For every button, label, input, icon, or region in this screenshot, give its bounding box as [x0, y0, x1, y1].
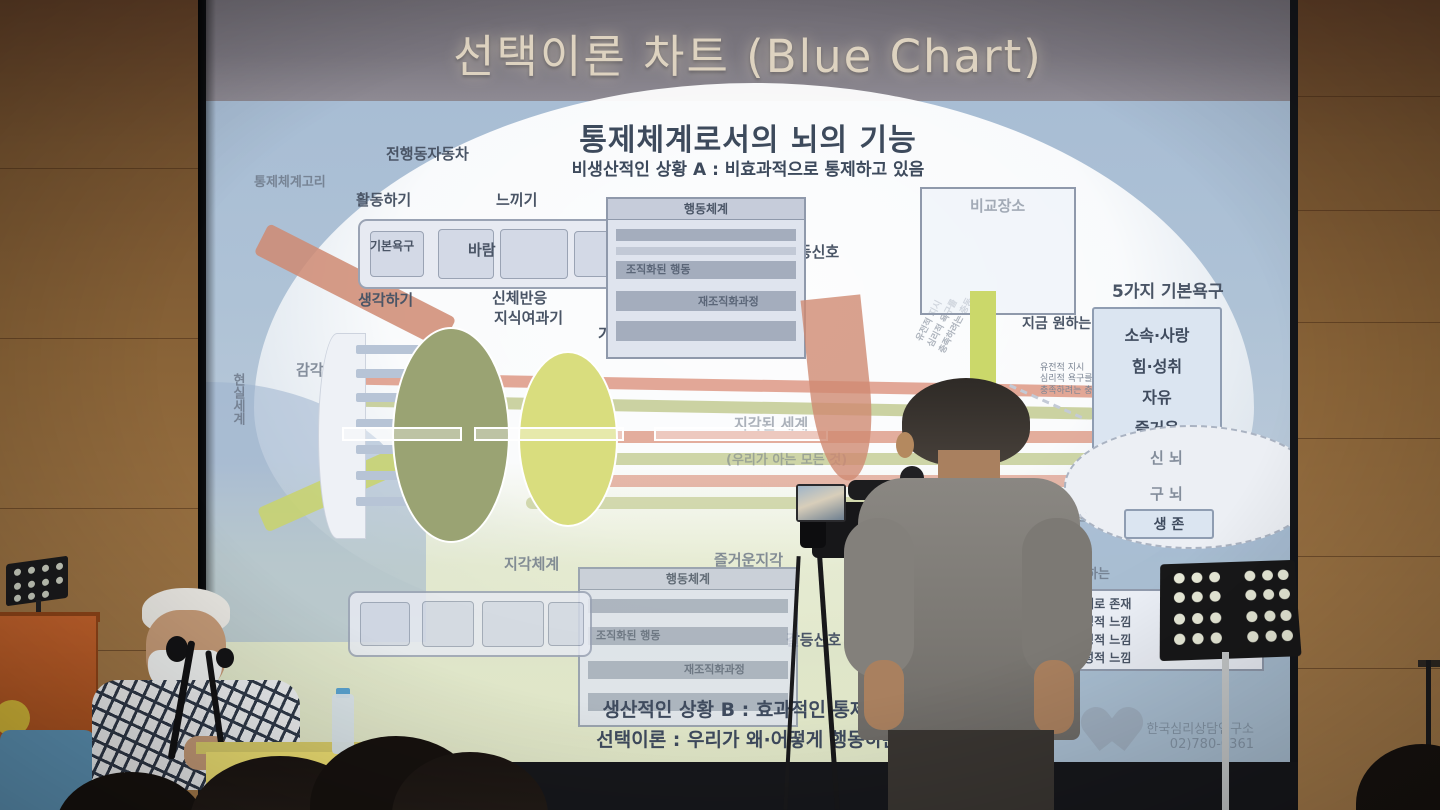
operator-arm-left: [864, 660, 904, 730]
label-real-world: 현실세계: [228, 373, 247, 425]
label-wants: 바람: [468, 239, 496, 260]
label-control-loop: 통제체계고리: [254, 171, 326, 190]
institute-name: 한국심리상담연구소: [1146, 718, 1254, 737]
label-perceptual-system: 지각체계: [504, 553, 559, 574]
total-behavior-car-bottom: [348, 591, 592, 657]
label-five-needs-title: 5가지 기본욕구: [1112, 277, 1224, 302]
music-stand-right-pole: [1222, 652, 1229, 810]
label-knowledge-filter: 지식여과기: [494, 307, 563, 328]
comparing-place-box: [920, 187, 1076, 315]
behavior-box-title-bottom: 행동체계: [580, 569, 796, 590]
behavior-row-organized: 조직화된 행동: [626, 261, 691, 277]
operator-sleeve-left: [844, 518, 914, 678]
institute-phone: 02)780-0361: [1146, 737, 1254, 752]
need-power: 힘·성취: [1094, 353, 1220, 377]
behavior-row-organized-bottom: 조직화된 행동: [596, 627, 661, 643]
label-thinking: 생각하기: [358, 289, 413, 310]
behavior-row-reorganizing: 재조직화과정: [698, 293, 759, 309]
label-new-brain: 신 뇌: [1150, 447, 1183, 468]
slide-title: 선택이론 차트 (Blue Chart): [206, 20, 1290, 85]
operator-arm-right: [1034, 660, 1074, 734]
operator-sleeve-right: [1022, 518, 1092, 678]
label-car: 전행동자동차: [386, 143, 469, 164]
slide-subheading: 비생산적인 상황 A : 비효과적으로 통제하고 있음: [206, 155, 1290, 180]
photo-scene: 선택이론 차트 (Blue Chart) 통제체계로서의 뇌의 기능 비생산적인…: [0, 0, 1440, 810]
survival-box: 생 존: [1124, 509, 1214, 539]
institute-logo: 한국심리상담연구소 02)780-0361: [1146, 718, 1254, 752]
slide-body: 통제체계로서의 뇌의 기능 비생산적인 상황 A : 비효과적으로 통제하고 있…: [206, 101, 1290, 762]
label-feeling: 느끼기: [496, 189, 537, 210]
label-basic-needs-wheel: 기본욕구: [370, 237, 414, 254]
need-belonging: 소속·사랑: [1094, 322, 1220, 346]
microphone-2-head: [216, 648, 234, 668]
label-physiology: 신체반응: [492, 287, 547, 308]
behavior-row-reorganizing-bottom: 재조직화과정: [684, 661, 745, 677]
music-stand-left: [6, 556, 68, 607]
label-survival: 생 존: [1126, 514, 1212, 534]
label-acting: 활동하기: [356, 189, 411, 210]
music-stand-right: [1160, 560, 1302, 661]
flow-arrow-3: [654, 427, 828, 441]
slide-heading: 통제체계로서의 뇌의 기능: [206, 115, 1290, 159]
behavior-box-title: 행동체계: [608, 199, 804, 220]
camera-operator: [834, 378, 1096, 810]
operator-trousers: [888, 730, 1054, 810]
water-bottle: [332, 694, 354, 754]
need-freedom: 자유: [1094, 384, 1220, 408]
operator-ear: [896, 432, 914, 458]
label-old-brain: 구 뇌: [1150, 483, 1183, 504]
flow-arrow-1: [342, 427, 462, 441]
flow-arrow-2: [474, 427, 624, 441]
behavior-system-box-top: 행동체계 조직화된 행동 재조직화과정: [606, 197, 806, 359]
projection-screen: 선택이론 차트 (Blue Chart) 통제체계로서의 뇌의 기능 비생산적인…: [206, 0, 1290, 762]
